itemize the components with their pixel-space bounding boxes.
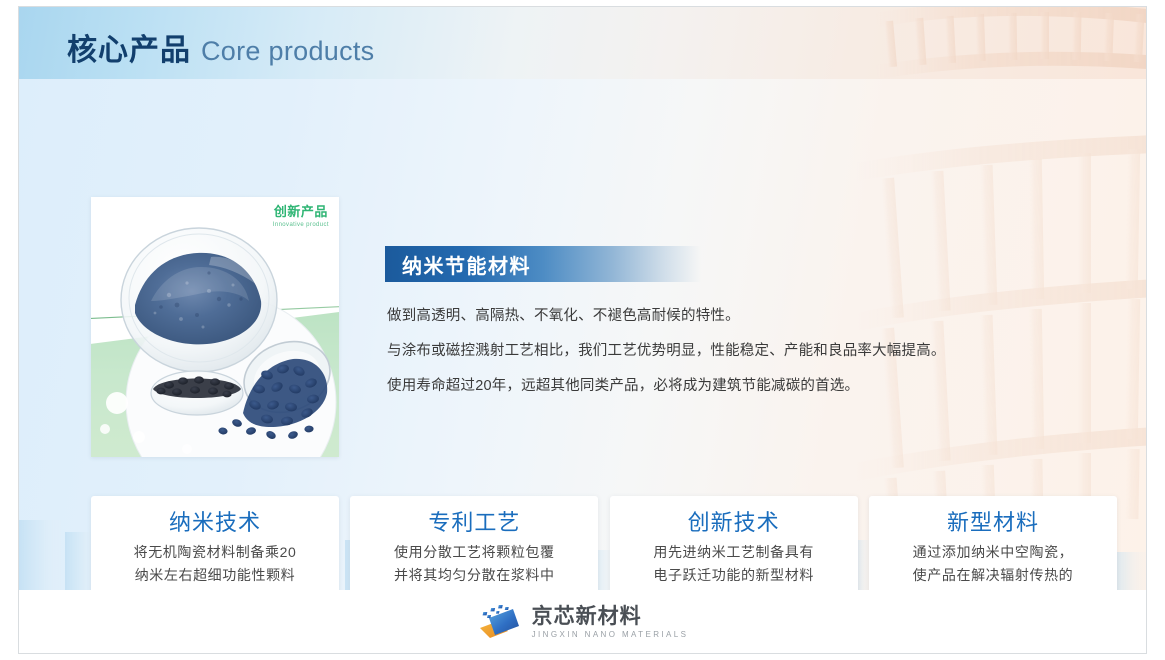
feature-card-body-line: 并将其均匀分散在浆料中 (394, 564, 555, 587)
slide: 核心产品Core products (0, 0, 1165, 660)
page-title: 核心产品Core products (67, 25, 374, 69)
company-logo: 京芯新材料 JINGXIN NANO MATERIALS (477, 604, 689, 640)
feature-card-title: 专利工艺 (428, 508, 520, 538)
feature-card-title: 创新技术 (688, 508, 780, 538)
feature-card-nano-technology[interactable]: 纳米技术 将无机陶瓷材料制备乘20 纳米左右超细功能性颗料 (91, 496, 339, 590)
feature-card-innovative-technology[interactable]: 创新技术 用先进纳米工艺制备具有 电子跃迁功能的新型材料 选择性吸收电磁波 (610, 496, 858, 590)
feature-card-body-line: 使用分散工艺将颗粒包覆 (394, 541, 555, 564)
logo-company-name-en: JINGXIN NANO MATERIALS (532, 630, 689, 639)
description-line-1: 做到高透明、高隔热、不氧化、不褪色高耐候的特性。 (387, 307, 1067, 325)
product-image-card: 创新产品 Innovative product (91, 197, 339, 457)
feature-card-title: 纳米技术 (169, 508, 261, 538)
innovative-product-label-cn: 创新产品 (273, 204, 329, 220)
feature-card-body: 将无机陶瓷材料制备乘20 纳米左右超细功能性颗料 (134, 541, 297, 587)
innovative-product-label-en: Innovative product (273, 222, 329, 228)
innovative-product-label: 创新产品 Innovative product (273, 204, 329, 228)
description-line-2: 与涂布或磁控溅射工艺相比，我们工艺优势明显，性能稳定、产能和良品率大幅提高。 (387, 342, 1067, 360)
product-headline-banner: 纳米节能材料 (385, 246, 701, 282)
feature-card-title: 新型材料 (947, 508, 1039, 538)
description-line-3: 使用寿命超过20年，远超其他同类产品，必将成为建筑节能减碳的首选。 (387, 377, 1067, 395)
content-panel: 创新产品 Innovative product 纳米节能材料 做到高透明、高隔热… (19, 79, 1146, 590)
feature-card-body: 用先进纳米工艺制备具有 电子跃迁功能的新型材料 选择性吸收电磁波 (653, 541, 814, 590)
logo-company-name-cn: 京芯新材料 (532, 605, 689, 628)
feature-card-body: 通过添加纳米中空陶瓷， 使产品在解决辐射传热的 同时解决部分传导热问题 (913, 541, 1074, 590)
feature-card-body-line: 将无机陶瓷材料制备乘20 (134, 541, 297, 564)
feature-card-body-line: 使产品在解决辐射传热的 (913, 564, 1074, 587)
feature-card-new-material[interactable]: 新型材料 通过添加纳米中空陶瓷， 使产品在解决辐射传热的 同时解决部分传导热问题 (869, 496, 1117, 590)
slide-footer: 京芯新材料 JINGXIN NANO MATERIALS (19, 590, 1146, 654)
jingxin-logo-icon (477, 604, 523, 640)
product-photo-illustration (91, 197, 339, 457)
product-headline-text: 纳米节能材料 (402, 250, 531, 279)
page-title-en: Core products (201, 36, 374, 66)
feature-card-body-line: 用先进纳米工艺制备具有 (653, 541, 814, 564)
feature-card-list: 纳米技术 将无机陶瓷材料制备乘20 纳米左右超细功能性颗料 专利工艺 使用分散工… (91, 496, 1117, 590)
logo-text: 京芯新材料 JINGXIN NANO MATERIALS (532, 605, 689, 639)
feature-card-body-line: 纳米左右超细功能性颗料 (134, 564, 297, 587)
classical-columns-watermark-header (726, 7, 1146, 79)
slide-header: 核心产品Core products (19, 7, 1146, 79)
product-description: 做到高透明、高隔热、不氧化、不褪色高耐候的特性。 与涂布或磁控溅射工艺相比，我们… (387, 307, 1067, 412)
feature-card-body-line: 电子跃迁功能的新型材料 (653, 564, 814, 587)
feature-card-patented-process[interactable]: 专利工艺 使用分散工艺将颗粒包覆 并将其均匀分散在浆料中 (350, 496, 598, 590)
feature-card-body-line: 通过添加纳米中空陶瓷， (913, 541, 1074, 564)
page-title-cn: 核心产品 (67, 34, 191, 67)
feature-card-body: 使用分散工艺将颗粒包覆 并将其均匀分散在浆料中 (394, 541, 555, 587)
